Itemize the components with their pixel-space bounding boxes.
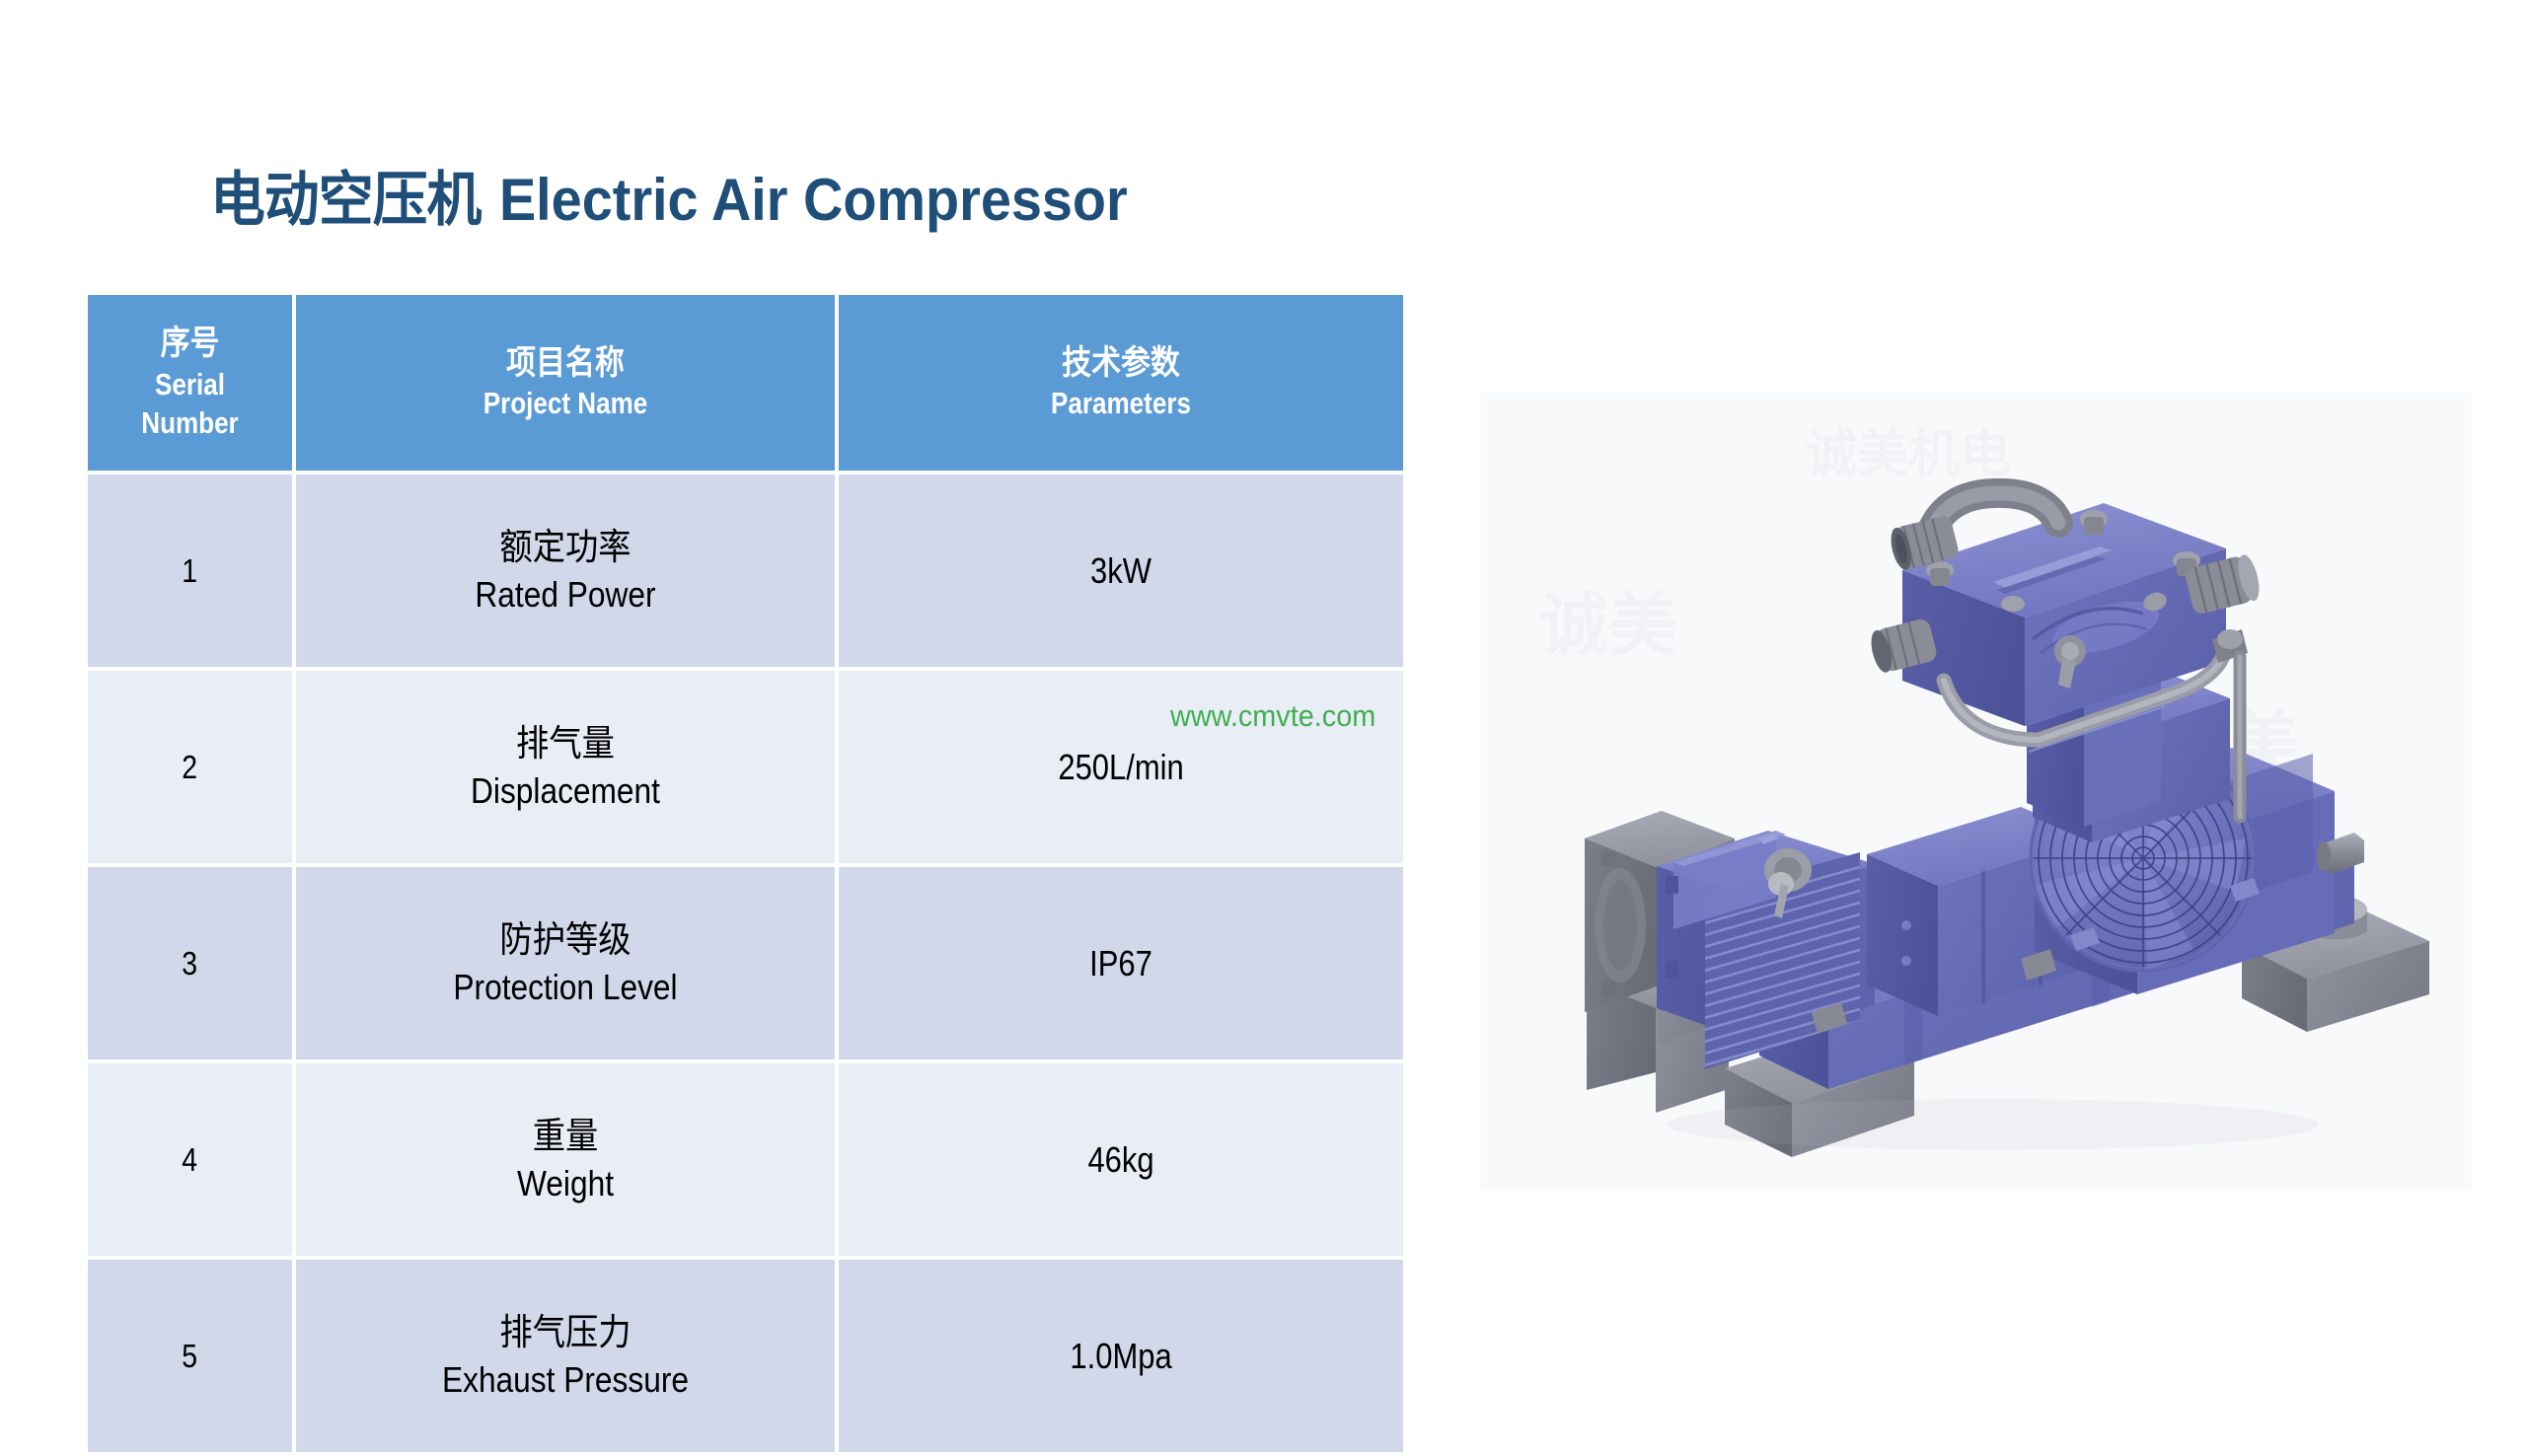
column-header-serial-number: 序号 Serial Number xyxy=(88,295,292,471)
cell-serial-number: 5 xyxy=(88,1260,292,1452)
page-title: 电动空压机Electric Air Compressor xyxy=(210,166,1128,234)
cell-project-name: 排气量 Displacement xyxy=(296,671,835,863)
table-body: 1 额定功率 Rated Power 3kW 2 排气量 Displacemen… xyxy=(88,474,1403,1452)
specification-table: 序号 Serial Number 项目名称 Project Name 技术参数 … xyxy=(84,291,1407,1456)
compressor-3d-render xyxy=(1480,393,2472,1189)
cell-parameter: 46kg xyxy=(839,1063,1403,1256)
column-header-project-name: 项目名称 Project Name xyxy=(296,295,835,471)
project-name-en: Displacement xyxy=(329,767,802,815)
cell-project-name: 重量 Weight xyxy=(296,1063,835,1256)
cell-serial-number: 4 xyxy=(88,1063,292,1256)
project-name-cn: 排气量 xyxy=(323,720,807,767)
project-name-en: Rated Power xyxy=(329,571,802,619)
column-header-serial-en: Serial Number xyxy=(105,365,276,443)
serial-value: 5 xyxy=(183,1340,198,1372)
project-name-cn: 额定功率 xyxy=(323,524,807,571)
table-row: 4 重量 Weight 46kg xyxy=(88,1063,1403,1256)
table-header-row: 序号 Serial Number 项目名称 Project Name 技术参数 … xyxy=(88,295,1403,471)
parameter-value: 46kg xyxy=(1087,1138,1153,1181)
parameter-value: 1.0Mpa xyxy=(1070,1335,1171,1377)
column-header-project-en: Project Name xyxy=(339,384,792,423)
serial-value: 2 xyxy=(183,751,198,783)
cell-parameter: 250L/min xyxy=(839,671,1403,863)
cell-serial-number: 1 xyxy=(88,474,292,667)
serial-value: 1 xyxy=(183,554,198,587)
column-header-serial-cn: 序号 xyxy=(100,323,279,365)
project-name-en: Exhaust Pressure xyxy=(329,1356,802,1404)
product-image-panel: 诚美 诚美机电 诚美 诚美机电 xyxy=(1480,393,2472,1189)
page-title-chinese: 电动空压机 xyxy=(210,167,481,233)
column-header-project-cn: 项目名称 xyxy=(329,342,802,385)
project-name-en: Protection Level xyxy=(329,964,802,1011)
column-header-parameters-cn: 技术参数 xyxy=(872,342,1369,385)
column-header-parameters: 技术参数 Parameters xyxy=(839,295,1403,471)
cell-project-name: 防护等级 Protection Level xyxy=(296,867,835,1059)
cell-project-name: 排气压力 Exhaust Pressure xyxy=(296,1260,835,1452)
table-row: 2 排气量 Displacement 250L/min xyxy=(88,671,1403,863)
project-name-cn: 防护等级 xyxy=(323,916,807,964)
project-name-cn: 重量 xyxy=(323,1113,807,1160)
cell-parameter: 3kW xyxy=(839,474,1403,667)
cell-project-name: 额定功率 Rated Power xyxy=(296,474,835,667)
column-header-parameters-en: Parameters xyxy=(884,384,1358,423)
cell-serial-number: 3 xyxy=(88,867,292,1059)
cell-parameter: 1.0Mpa xyxy=(839,1260,1403,1452)
cell-serial-number: 2 xyxy=(88,671,292,863)
table-row: 5 排气压力 Exhaust Pressure 1.0Mpa xyxy=(88,1260,1403,1452)
cell-parameter: IP67 xyxy=(839,867,1403,1059)
parameter-value: 250L/min xyxy=(1058,746,1183,788)
parameter-value: 3kW xyxy=(1090,549,1152,592)
table-row: 1 额定功率 Rated Power 3kW xyxy=(88,474,1403,667)
project-name-cn: 排气压力 xyxy=(323,1309,807,1356)
serial-value: 3 xyxy=(183,947,198,980)
project-name-en: Weight xyxy=(329,1160,802,1207)
serial-value: 4 xyxy=(183,1143,198,1176)
parameter-value: IP67 xyxy=(1089,942,1152,984)
table-row: 3 防护等级 Protection Level IP67 xyxy=(88,867,1403,1059)
page-title-english: Electric Air Compressor xyxy=(499,167,1128,233)
